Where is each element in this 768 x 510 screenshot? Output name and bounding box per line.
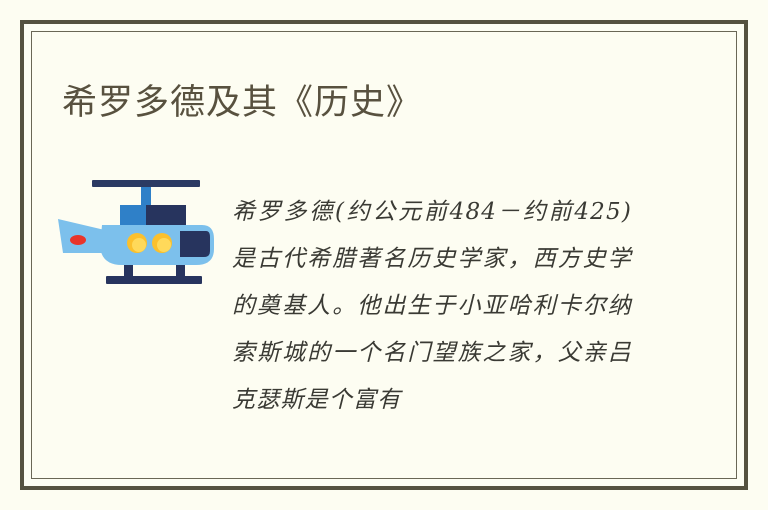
helicopter-tail-light [70, 235, 86, 245]
helicopter-skid-strut-left [124, 265, 133, 277]
document-frame: 希罗多德及其《历史》 [20, 20, 748, 490]
content-area: 希罗多德(约公元前484－约前425)是古代希腊著名历史学家，西方史学的奠基人。… [24, 146, 744, 486]
helicopter-rotor-blade [92, 180, 200, 187]
helicopter-landing-skid [106, 276, 202, 284]
helicopter-window-1-highlight [132, 238, 146, 252]
helicopter-engine-left [120, 205, 146, 225]
helicopter-icon [54, 171, 224, 291]
helicopter-engine-right [146, 205, 186, 225]
helicopter-cockpit-window [180, 231, 210, 257]
page-title: 希罗多德及其《历史》 [62, 80, 422, 126]
article-body-text: 希罗多德(约公元前484－约前425)是古代希腊著名历史学家，西方史学的奠基人。… [232, 189, 632, 424]
helicopter-skid-strut-right [176, 265, 185, 277]
illustration-container [54, 171, 224, 291]
helicopter-window-2-highlight [157, 238, 171, 252]
